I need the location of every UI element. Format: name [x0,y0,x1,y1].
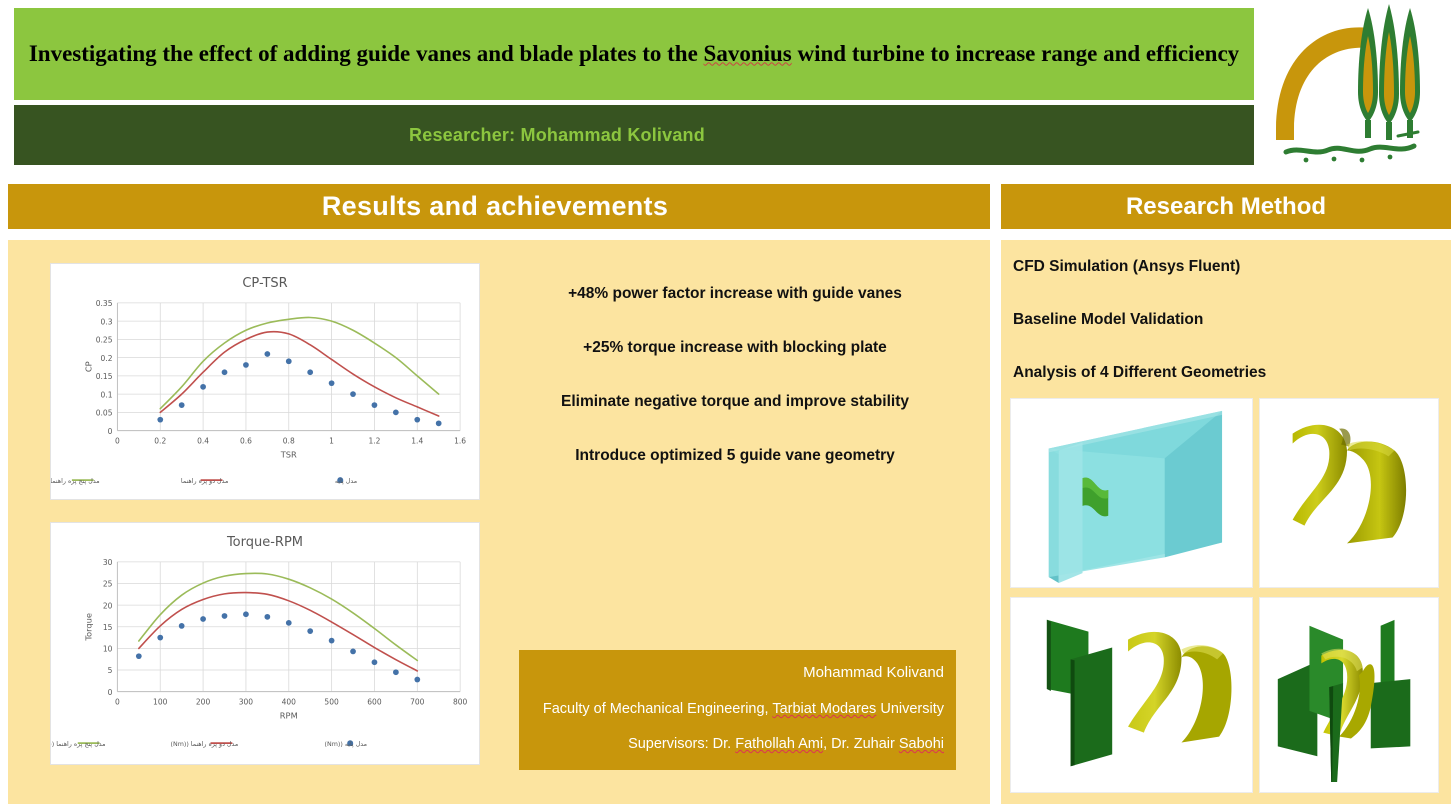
svg-text:25: 25 [103,580,113,589]
svg-text:400: 400 [282,698,297,707]
finding-item: Introduce optimized 5 guide vane geometr… [495,447,975,465]
supervisor-one-name: Fathollah Ami [735,736,823,752]
title-text-part1: Investigating the effect of adding guide… [29,41,704,66]
svg-text:300: 300 [239,698,254,707]
svg-text:Torque: Torque [84,613,94,642]
chart-torque-rpm: Torque-RPM 05101520253001002003004005006… [50,522,480,765]
key-findings-list: +48% power factor increase with guide va… [495,285,975,501]
svg-text:0: 0 [115,437,120,446]
svg-text:0: 0 [108,427,113,436]
svg-text:0.8: 0.8 [283,437,295,446]
svg-text:1.4: 1.4 [411,437,423,446]
author-name: Mohammad Kolivand [531,664,944,683]
method-item: CFD Simulation (Ansys Fluent) [1013,258,1439,276]
method-section-header: Research Method [1001,184,1451,229]
chart-torque-rpm-plot: 0510152025300100200300400500600700800RPM… [51,550,479,761]
svg-text:CP: CP [84,361,94,372]
svg-text:مدل پنج پره راهنما: مدل پنج پره راهنما [51,478,100,485]
geometry-image-grid [1010,398,1442,794]
chart-cp-tsr: CP-TSR 00.050.10.150.20.250.30.3500.20.4… [50,263,480,500]
svg-text:200: 200 [196,698,211,707]
svg-text:500: 500 [324,698,339,707]
svg-text:0.2: 0.2 [101,354,113,363]
svg-text:مدل پنج پره راهنما ((Nm): مدل پنج پره راهنما ((Nm) [51,741,106,748]
method-item: Analysis of 4 Different Geometries [1013,364,1439,382]
svg-text:TSR: TSR [280,449,297,459]
svg-text:RPM: RPM [280,710,298,720]
svg-text:0.25: 0.25 [96,336,113,345]
svg-text:0.2: 0.2 [154,437,166,446]
geometry-image-baseline-rotor [1259,398,1439,588]
affiliation-suffix: University [876,701,944,717]
supervisors-line: Supervisors: Dr. Fathollah Ami, Dr. Zuha… [531,735,944,753]
author-affiliation: Faculty of Mechanical Engineering, Tarbi… [531,700,944,718]
svg-text:800: 800 [453,698,468,707]
svg-text:100: 100 [153,698,168,707]
svg-text:5: 5 [108,666,113,675]
university-logo [1258,0,1451,172]
svg-text:1.6: 1.6 [454,437,466,446]
svg-text:30: 30 [103,558,113,567]
results-header-label: Results and achievements [322,191,668,222]
svg-text:مدل دو پره راهنما ((Nm): مدل دو پره راهنما ((Nm) [170,741,238,748]
logo-persian-script [1286,132,1418,162]
chart-torque-rpm-title: Torque-RPM [51,523,479,550]
svg-text:0.4: 0.4 [197,437,209,446]
svg-text:0.15: 0.15 [96,372,113,381]
supervisors-prefix: Supervisors: Dr. [628,736,735,752]
chart-cp-tsr-title: CP-TSR [51,264,479,291]
affiliation-spellcheck-word: Tarbiat Modares [772,701,876,717]
svg-text:700: 700 [410,698,425,707]
svg-text:مدل پایه: مدل پایه [335,478,357,485]
title-spellcheck-word: Savonius [704,41,792,66]
svg-text:600: 600 [367,698,382,707]
finding-item: +25% torque increase with blocking plate [495,339,975,357]
svg-text:0: 0 [108,688,113,697]
svg-text:0.1: 0.1 [101,390,113,399]
chart-cp-tsr-plot: 00.050.10.150.20.250.30.3500.20.40.60.81… [51,291,479,496]
supervisors-separator: , Dr. Zuhair [823,736,899,752]
page-title: Investigating the effect of adding guide… [19,33,1249,76]
svg-text:0.05: 0.05 [96,409,113,418]
poster-title-banner: Investigating the effect of adding guide… [14,8,1254,100]
affiliation-prefix: Faculty of Mechanical Engineering, [543,701,772,717]
supervisor-two-name: Sabohi [899,736,944,752]
author-info-box: Mohammad Kolivand Faculty of Mechanical … [519,650,956,770]
researcher-name: Researcher: Mohammad Kolivand [409,125,705,146]
method-header-label: Research Method [1126,193,1326,221]
geometry-image-two-guide-vanes [1010,597,1253,793]
finding-item: +48% power factor increase with guide va… [495,285,975,303]
title-text-part2: wind turbine to increase range and effic… [792,41,1239,66]
researcher-banner: Researcher: Mohammad Kolivand [14,105,1254,165]
svg-text:0: 0 [115,698,120,707]
svg-text:1: 1 [329,437,334,446]
results-section-header: Results and achievements [8,184,990,229]
svg-text:0.35: 0.35 [96,299,113,308]
svg-text:مدل دو پره راهنما: مدل دو پره راهنما [181,478,228,485]
svg-text:1.2: 1.2 [368,437,380,446]
svg-text:15: 15 [103,623,113,632]
svg-text:0.6: 0.6 [240,437,252,446]
geometry-image-five-guide-vanes [1259,597,1439,793]
finding-item: Eliminate negative torque and improve st… [495,393,975,411]
svg-text:20: 20 [103,601,113,610]
method-item: Baseline Model Validation [1013,311,1439,329]
svg-text:مدل پایه ((Nm): مدل پایه ((Nm) [325,741,368,748]
svg-text:0.3: 0.3 [101,317,113,326]
svg-text:10: 10 [103,645,113,654]
geometry-image-cfd-domain [1010,398,1253,588]
